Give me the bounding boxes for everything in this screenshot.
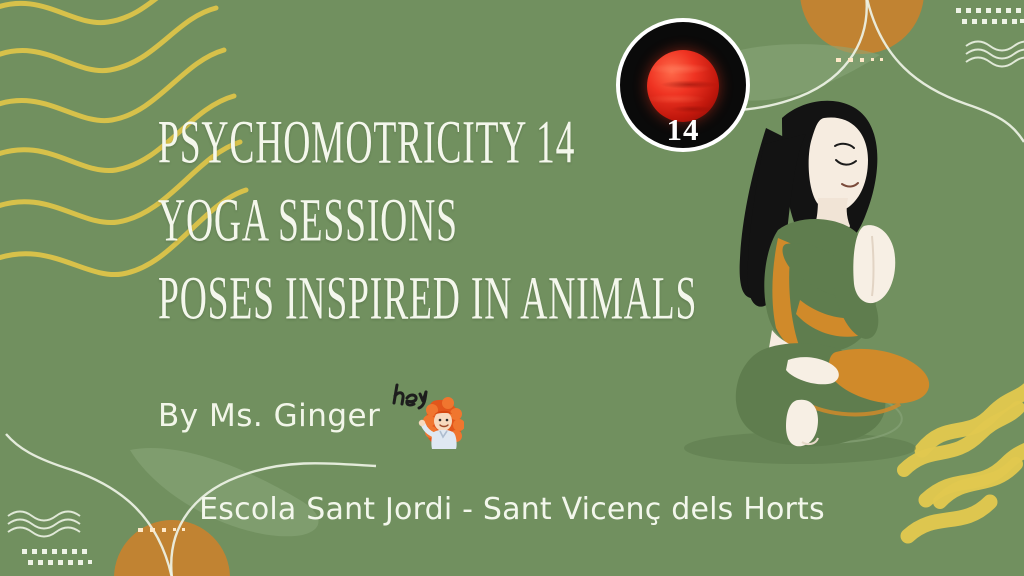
forearm	[834, 268, 878, 339]
dot-grid-top-right	[956, 8, 1024, 24]
garment-accent-arm	[796, 300, 871, 337]
squiggle-lines-top-right	[966, 42, 1024, 67]
byline-label: By Ms. Ginger	[158, 398, 380, 434]
lesson-number-badge[interactable]: 14	[616, 18, 750, 152]
sticker-hand	[419, 420, 425, 426]
sparkle-dots-bottom	[138, 528, 185, 532]
ginger-character-sticker	[390, 379, 464, 449]
foot	[786, 400, 818, 447]
mat-outline	[746, 390, 902, 443]
figure-shadow	[684, 432, 916, 464]
toes	[802, 438, 818, 444]
face	[809, 117, 868, 211]
badge-number-label: 14	[620, 114, 746, 145]
torso-garment	[764, 219, 876, 353]
mouth	[842, 183, 858, 187]
byline-row: By Ms. Ginger	[158, 383, 464, 449]
upper-arm	[783, 243, 855, 296]
garment-accent-left	[772, 238, 800, 348]
crossed-leg	[829, 349, 929, 404]
curved-line-top-extension	[866, 0, 1024, 142]
hair-main	[782, 101, 877, 253]
school-name-label: Escola Sant Jordi - Sant Vicenç dels Hor…	[0, 492, 1024, 527]
sticker-face	[434, 411, 452, 431]
sticker-shirt	[432, 430, 457, 449]
hey-word	[394, 385, 426, 408]
presentation-slide: 14 PSYCHOMOTRICITY 14 YOGA SESSIONS POSE…	[0, 0, 1024, 576]
resting-hand	[786, 357, 839, 384]
leg-accent-line	[806, 404, 900, 415]
closed-eye	[836, 160, 856, 165]
lower-body	[736, 343, 886, 446]
title-line-3: POSES INSPIRED IN ANIMALS	[158, 248, 638, 349]
dot-grid-bottom-left	[22, 549, 92, 565]
hand-crease	[872, 236, 874, 296]
sparkle-dots-top	[836, 58, 883, 62]
wavy-gold-brush-bottom-right-upper	[904, 408, 1018, 502]
orange-circle-bottom-left	[114, 520, 230, 576]
orange-circle-top-right	[800, 0, 924, 54]
eyebrow	[835, 144, 854, 148]
midriff	[768, 330, 840, 377]
neck	[810, 198, 850, 239]
praying-hands	[853, 225, 895, 303]
